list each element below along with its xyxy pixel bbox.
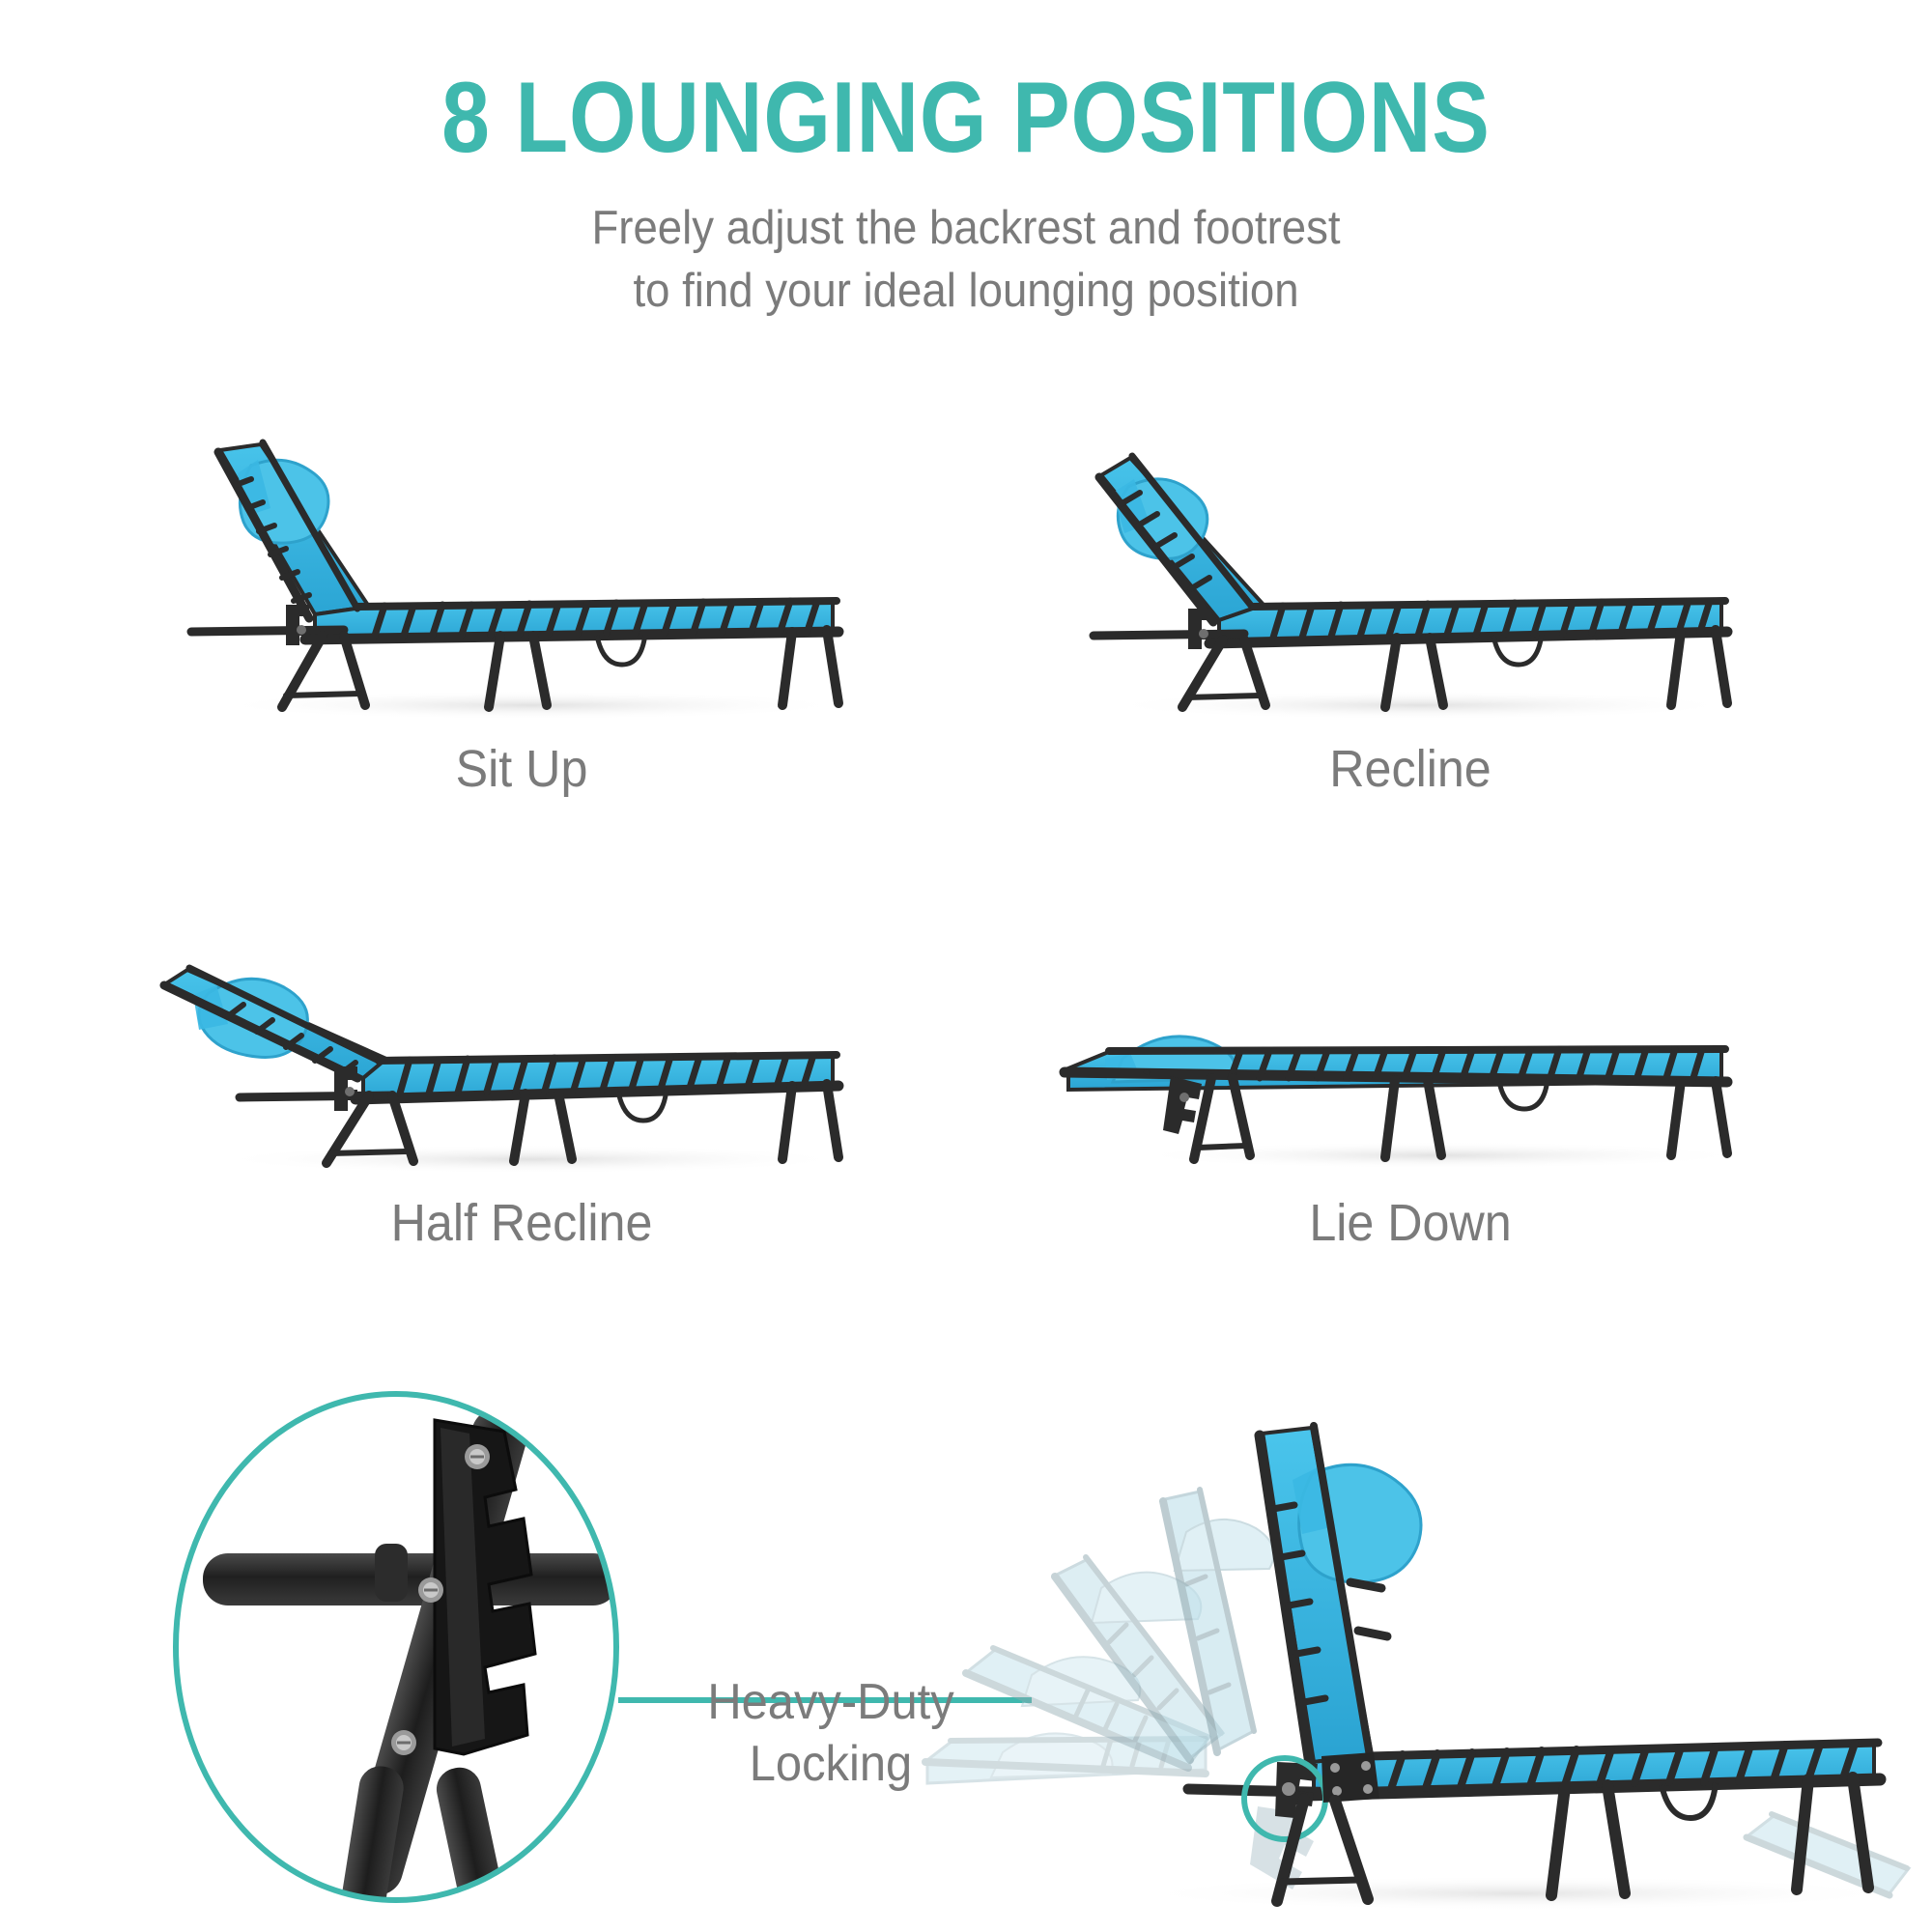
feature-section: Heavy-Duty Locking xyxy=(0,1352,1932,1932)
lounge-chair-adjustable-icon xyxy=(898,1352,1932,1932)
ghost-backrest-positions xyxy=(925,1490,1909,1895)
page-title: 8 LOUNGING POSITIONS xyxy=(135,0,1797,168)
position-caption: Recline xyxy=(1033,739,1787,799)
position-caption: Sit Up xyxy=(144,739,898,799)
position-caption: Lie Down xyxy=(1033,1193,1787,1253)
positions-grid: Sit Up xyxy=(0,415,1932,1314)
infographic-page: 8 LOUNGING POSITIONS Freely adjust the b… xyxy=(0,0,1932,1932)
lounge-chair-half-recline-icon xyxy=(116,869,927,1179)
header: 8 LOUNGING POSITIONS Freely adjust the b… xyxy=(0,0,1932,322)
lounge-chair-recline-icon xyxy=(1005,415,1816,724)
position-cell-half-recline: Half Recline xyxy=(116,869,927,1294)
subtitle-line-2: to find your ideal lounging position xyxy=(68,260,1864,323)
page-subtitle: Freely adjust the backrest and footrest … xyxy=(68,168,1864,322)
lounge-chair-lie-down-icon xyxy=(1005,869,1816,1179)
position-cell-recline: Recline xyxy=(1005,415,1816,840)
position-caption: Half Recline xyxy=(144,1193,898,1253)
position-cell-lie-down: Lie Down xyxy=(1005,869,1816,1294)
subtitle-line-1: Freely adjust the backrest and footrest xyxy=(68,197,1864,260)
position-cell-sit-up: Sit Up xyxy=(116,415,927,840)
lounge-chair-sit-up-icon xyxy=(116,415,927,724)
locking-bracket-art xyxy=(203,1403,618,1922)
